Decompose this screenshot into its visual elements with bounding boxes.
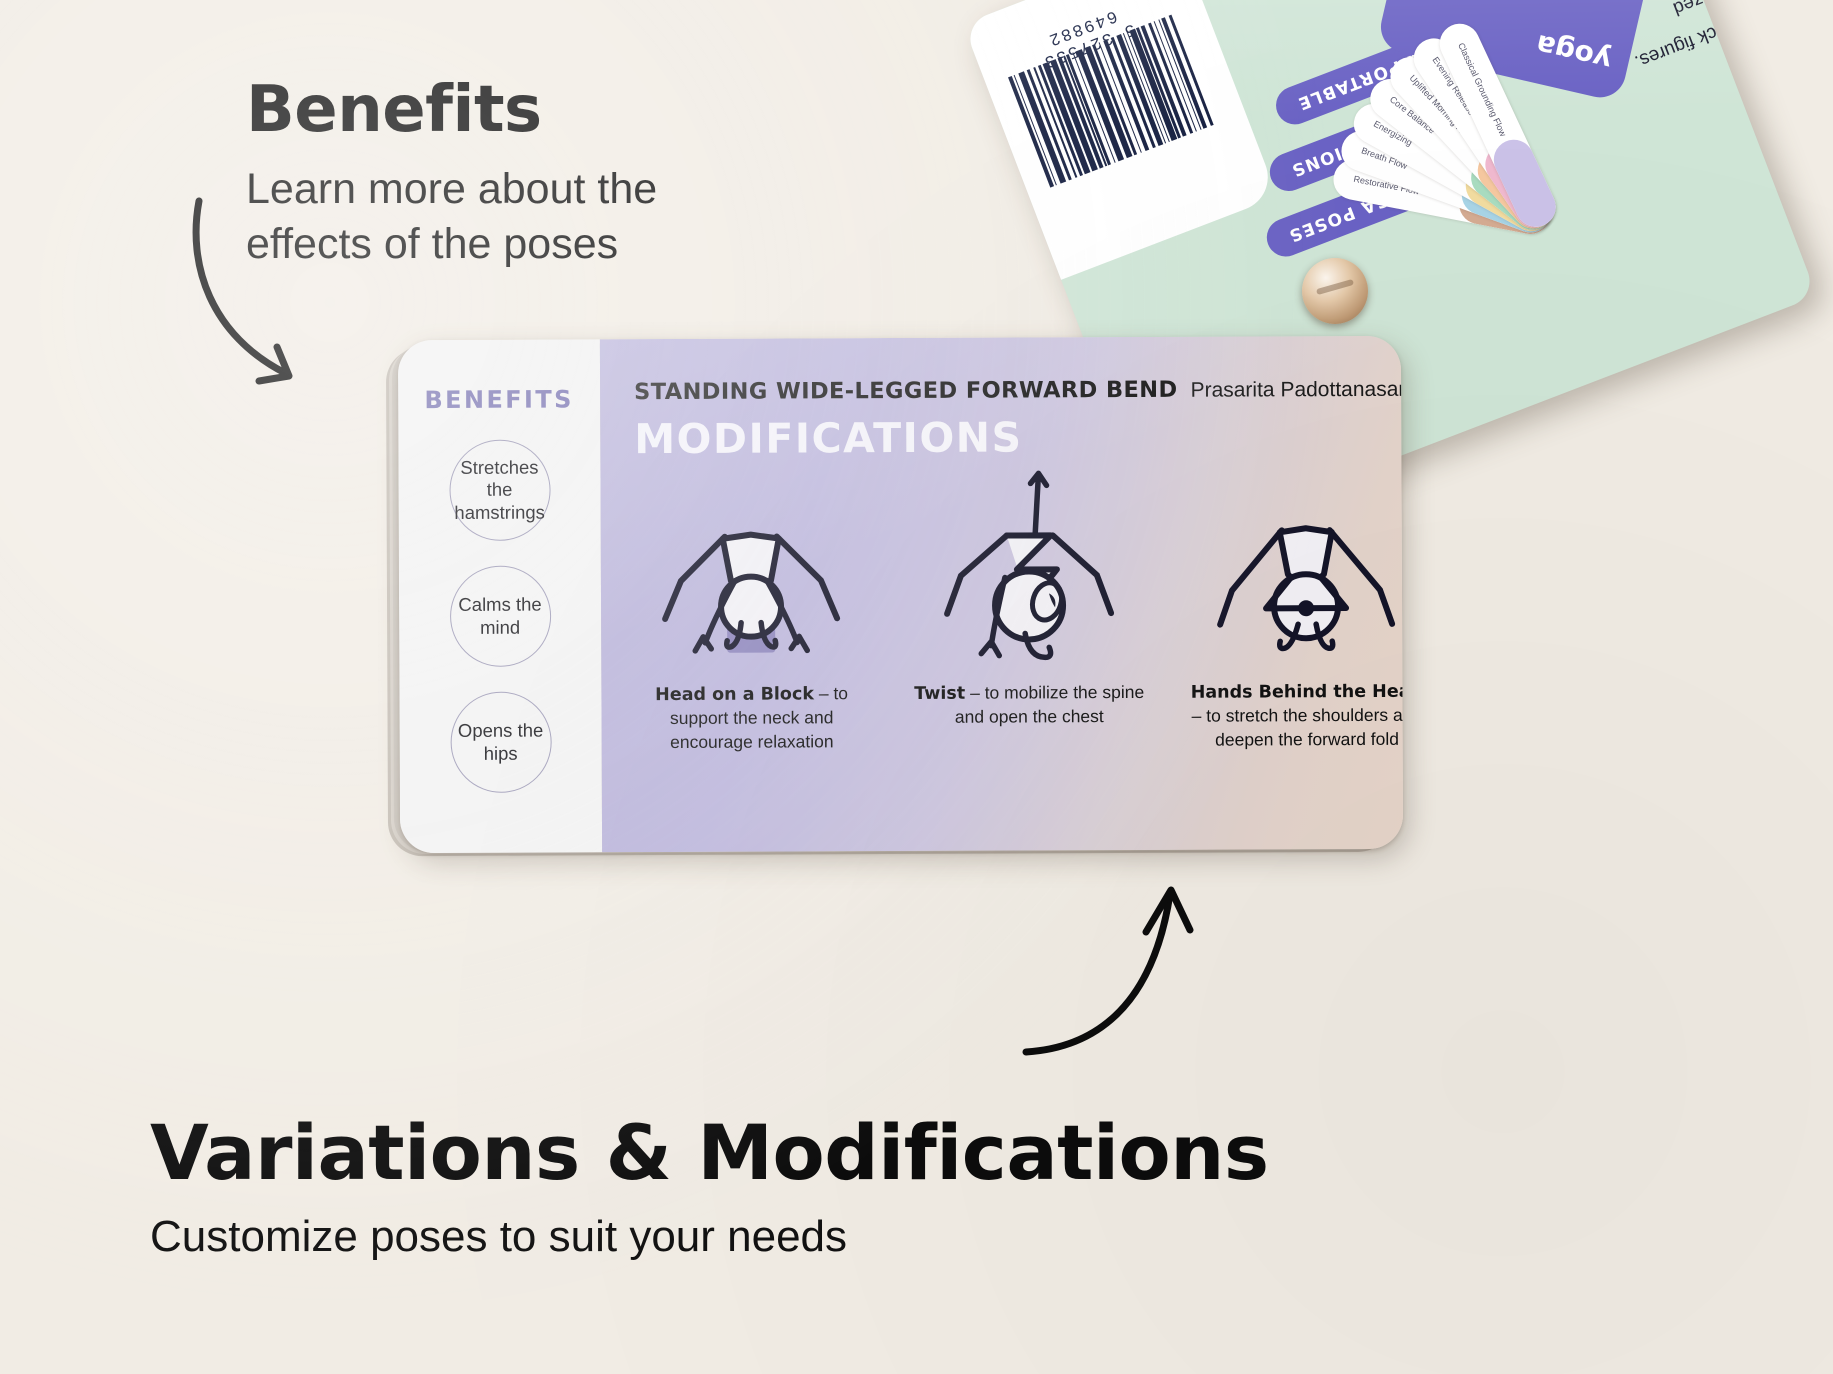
pose-sanskrit-name: Prasarita Padottanasana [1190, 378, 1403, 403]
barcode-bar [1042, 62, 1090, 174]
barcode-bar [1122, 33, 1166, 144]
pose-name: STANDING WIDE-LEGGED FORWARD BEND [634, 377, 1178, 405]
packaging-text-fragment-5: yoga stick figures. [1630, 0, 1782, 75]
modification-caption-2: Twist – to mobilize the spine and open t… [913, 681, 1146, 730]
barcode-bar [1153, 21, 1197, 132]
barcode-bar [1148, 23, 1193, 134]
modification-item-3: Hands Behind the Head – to stretch the s… [1190, 456, 1403, 828]
modification-caption-3: Hands Behind the Head – to stretch the s… [1191, 680, 1403, 752]
barcode-bar [1085, 46, 1133, 158]
barcode-bar [1092, 44, 1137, 155]
modification-title-3: Hands Behind the Head [1191, 682, 1403, 703]
yoga-wordmark: yoga [1532, 28, 1614, 77]
modifications-columns: Head on a Block – to support the neck an… [634, 456, 1403, 830]
barcode-bar [1111, 37, 1156, 148]
modification-caption-1: Head on a Block – to support the neck an… [635, 682, 868, 754]
barcode-bar [1098, 42, 1142, 153]
barcode-number: 5 327533 649882 [996, 0, 1174, 85]
brand-logo-tab: POCKET ASANA YOUR YOGA POSE LIBRARY TO G… [1333, 0, 1662, 78]
barcode-bar [1027, 69, 1072, 180]
metal-rivet-icon [1302, 258, 1368, 324]
barcode-bar [1033, 67, 1077, 178]
barcode-bar [1126, 31, 1170, 142]
modification-title-1: Head on a Block [655, 684, 814, 705]
modification-body-2: – to mobilize the spine and open the che… [955, 682, 1144, 727]
benefit-bubble-1: Stretches the hamstrings [449, 440, 550, 541]
modification-item-2: Twist – to mobilize the spine and open t… [912, 457, 1146, 829]
card-fan: YOUR YOGA POSE LIBRARY TO GO yoga Restor… [1252, 0, 1668, 221]
barcode-bar [1057, 57, 1104, 169]
curved-arrow-up-right-icon [1020, 880, 1220, 1070]
annotation-benefits: Benefits Learn more about the effects of… [246, 78, 716, 272]
modifications-panel: STANDING WIDE-LEGGED FORWARD BEND Prasar… [600, 336, 1403, 852]
modification-body-3: – to stretch the shoulders and deepen th… [1192, 705, 1404, 749]
barcode-bar [1008, 76, 1055, 188]
barcode-panel: 5 327533 649882 [963, 0, 1278, 281]
packaging-text-fragment-4: organized [1668, 0, 1756, 22]
benefits-panel: BENEFITS Stretches the hamstrings Calms … [398, 339, 602, 853]
barcode-bar [1018, 71, 1066, 183]
barcode-bar [1129, 29, 1177, 141]
barcode-bar [1063, 56, 1107, 167]
pose-titlebar: STANDING WIDE-LEGGED FORWARD BEND Prasar… [634, 376, 1403, 405]
barcode-bar [1141, 25, 1188, 137]
benefit-bubble-3: Opens the hips [450, 692, 551, 793]
modification-title-2: Twist [914, 684, 965, 704]
annotation-variations-title: Variations & Modifications [150, 1115, 1269, 1191]
barcode-bar [1161, 17, 1208, 129]
barcode-bar [1117, 34, 1164, 146]
barcode-bar [1169, 15, 1214, 126]
benefit-bubble-2: Calms the mind [449, 566, 550, 667]
pose-reference-card: BENEFITS Stretches the hamstrings Calms … [398, 336, 1403, 853]
annotation-variations-subtitle: Customize poses to suit your needs [150, 1209, 1269, 1265]
yoga-stick-figure-twist-icon [928, 457, 1129, 676]
barcode-bar [1103, 39, 1150, 151]
barcode-bar [1158, 19, 1202, 130]
barcode-bar [1038, 65, 1083, 176]
barcode-bar [1136, 27, 1181, 138]
barcode-bar [1013, 75, 1057, 186]
annotation-variations: Variations & Modifications Customize pos… [150, 1115, 1269, 1265]
barcode-bar [1072, 52, 1116, 163]
yoga-stick-figure-hands-behind-head-icon [1206, 456, 1403, 675]
barcode-bar [1050, 59, 1098, 171]
benefits-heading: BENEFITS [424, 385, 573, 414]
annotation-benefits-title: Benefits [246, 78, 716, 142]
modification-item-1: Head on a Block – to support the neck an… [634, 458, 868, 830]
annotation-benefits-subtitle: Learn more about the effects of the pose… [246, 162, 716, 272]
barcode-bar [1076, 49, 1124, 161]
yoga-stick-figure-head-on-block-icon [651, 458, 852, 677]
barcode-icon: 5 327533 649882 [996, 0, 1214, 188]
barcode-bar [1066, 54, 1111, 165]
